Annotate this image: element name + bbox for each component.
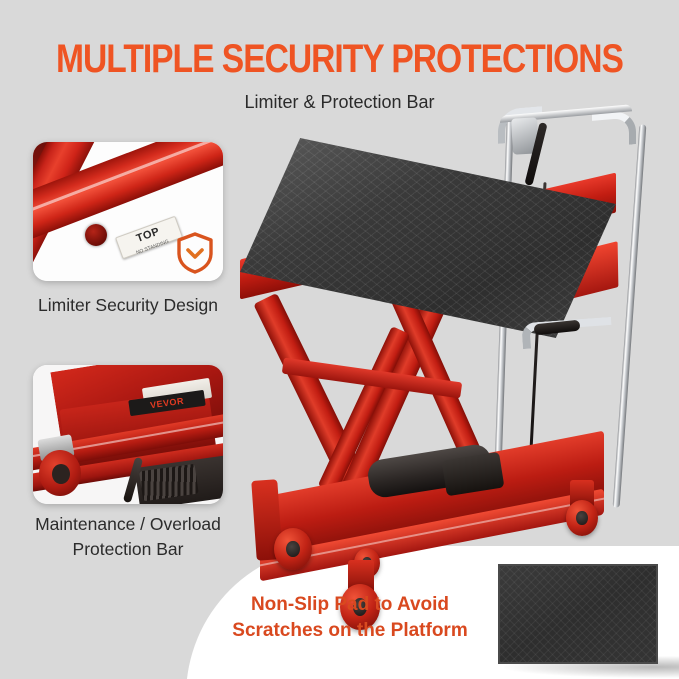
- callout-card-limiter-security: TOP NO STANDING: [33, 142, 223, 281]
- handle-curve-right: [592, 110, 636, 148]
- non-slip-pad-swatch: [498, 564, 658, 664]
- platform-non-slip-surface: [240, 138, 616, 338]
- limiter-pivot-bolt: [85, 224, 107, 246]
- infographic-page: MULTIPLE SECURITY PROTECTIONS Limiter & …: [0, 0, 679, 679]
- shield-check-icon: [176, 232, 214, 274]
- non-slip-pad-caption: Non-Slip Pad to Avoid Scratches on the P…: [210, 592, 490, 644]
- callout-2-caption: Maintenance / Overload Protection Bar: [8, 512, 248, 562]
- callout-card-overload-protection: VEVOR: [33, 365, 223, 504]
- callout-1-caption: Limiter Security Design: [8, 293, 248, 318]
- handle-arm-right: [613, 124, 647, 508]
- caster-wheel-rear-right: [566, 500, 598, 536]
- caster-wheel-rear-left: [274, 528, 312, 570]
- product-image-scissor-lift-cart: [236, 108, 666, 578]
- page-title: MULTIPLE SECURITY PROTECTIONS: [54, 36, 624, 82]
- caster-wheel: [39, 450, 81, 496]
